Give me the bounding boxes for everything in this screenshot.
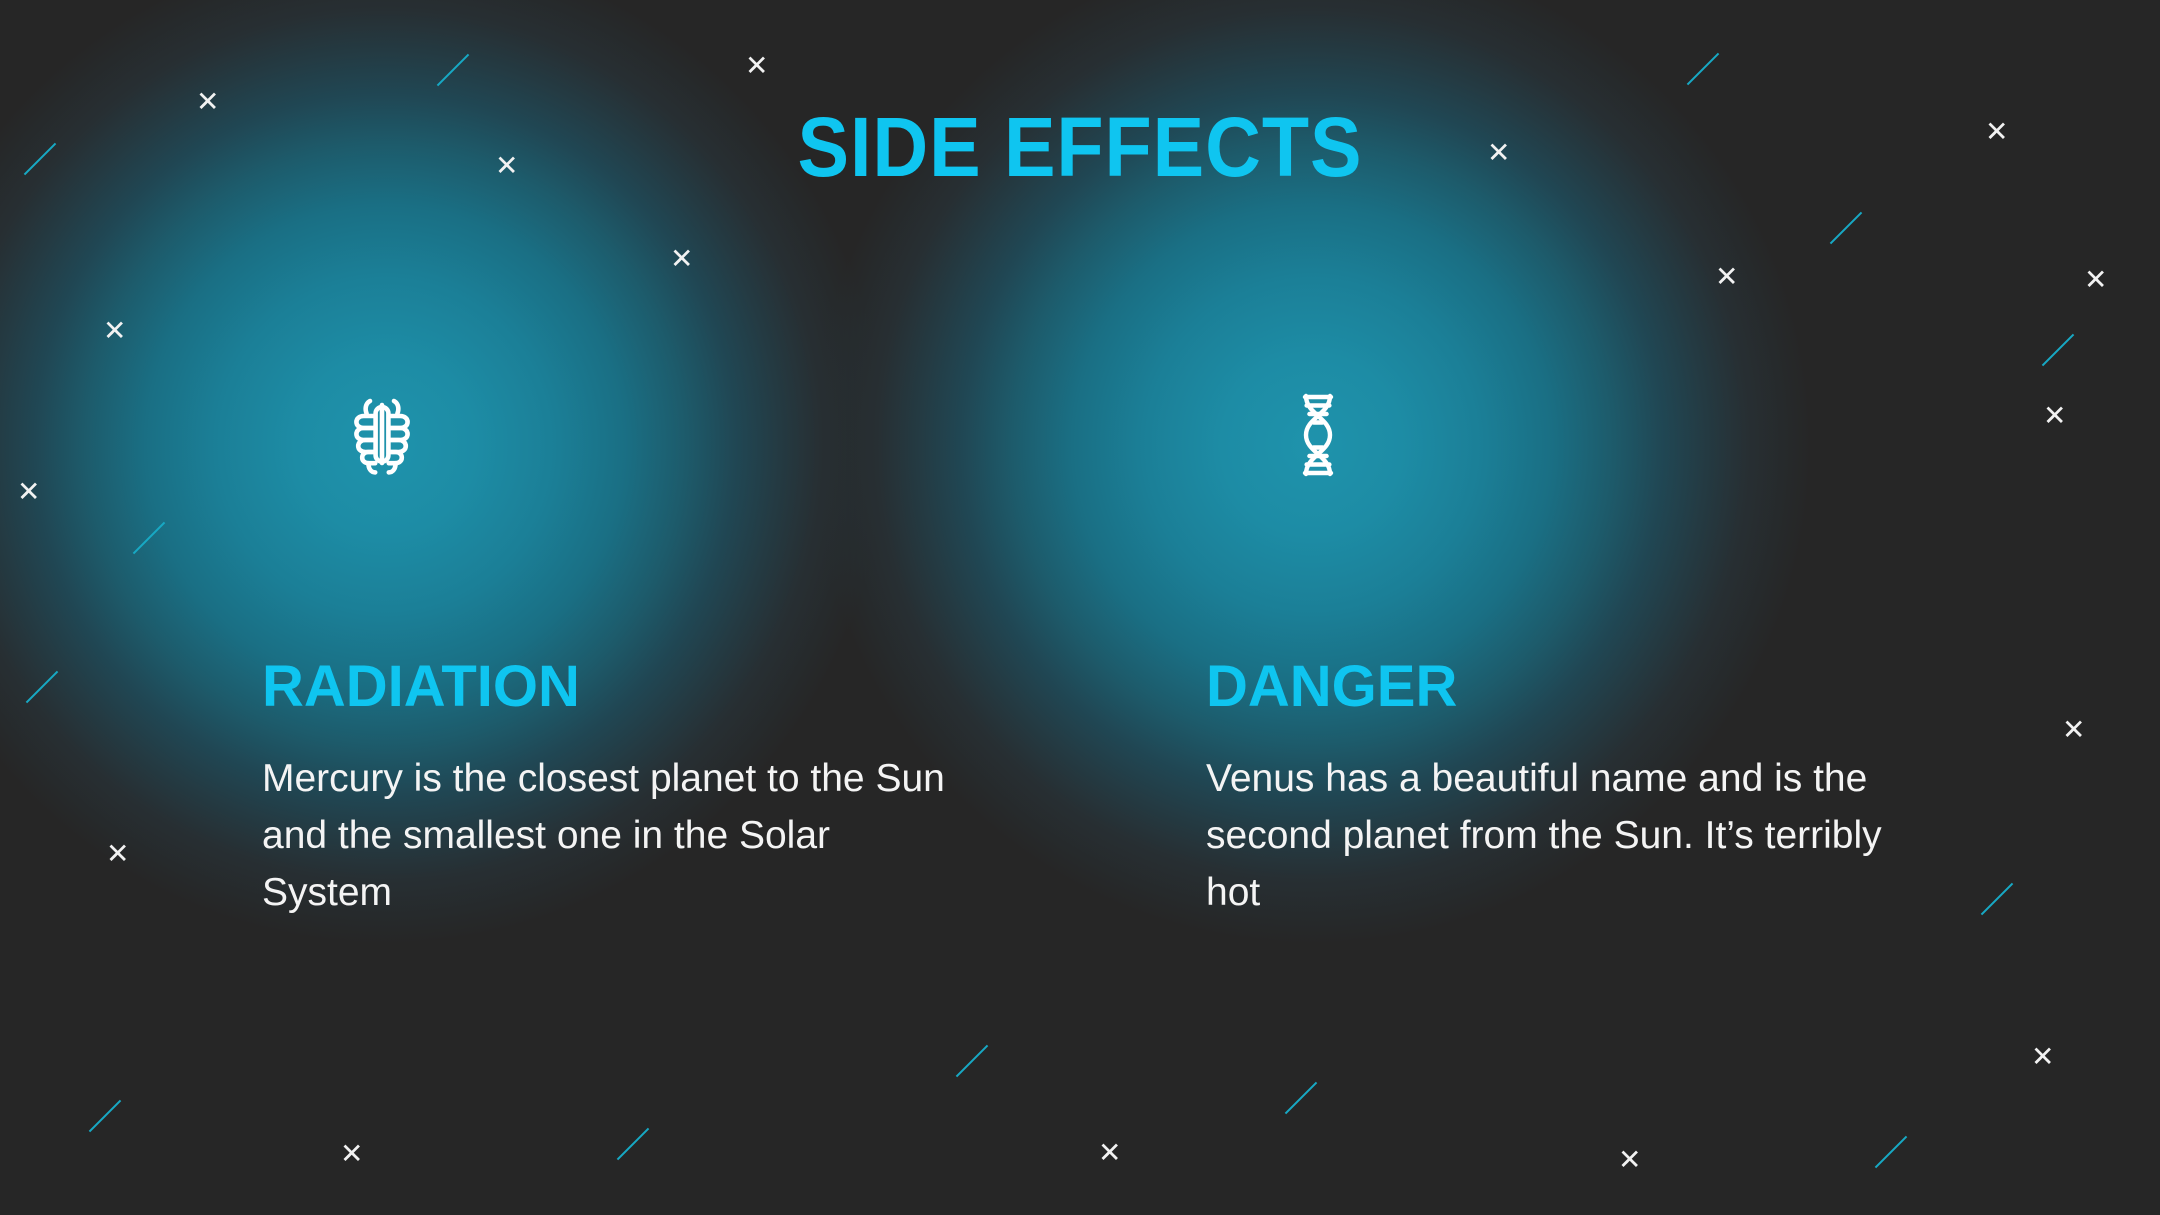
decorative-slash-icon (1830, 212, 1863, 245)
page-title: SIDE EFFECTS (86, 105, 2073, 189)
decorative-slash-icon (437, 54, 470, 87)
decorative-x-icon: ✕ (106, 840, 129, 868)
column-body-text: Mercury is the closest planet to the Sun… (262, 750, 952, 921)
decorative-x-icon: ✕ (17, 478, 40, 506)
decorative-slash-icon (24, 143, 57, 176)
decorative-slash-icon (1687, 53, 1720, 86)
decorative-x-icon: ✕ (340, 1140, 363, 1168)
decorative-slash-icon (1875, 1136, 1908, 1169)
decorative-x-icon: ✕ (2031, 1043, 2054, 1071)
dna-icon (1268, 380, 1368, 490)
decorative-slash-icon (133, 522, 166, 555)
ribcage-icon (332, 380, 432, 490)
feature-column-danger: DANGER Venus has a beautiful name and is… (1206, 380, 1966, 921)
decorative-slash-icon (89, 1100, 122, 1133)
decorative-x-icon: ✕ (2062, 716, 2085, 744)
decorative-x-icon: ✕ (2084, 266, 2107, 294)
column-heading: RADIATION (262, 658, 1022, 716)
decorative-x-icon: ✕ (670, 245, 693, 273)
decorative-slash-icon (956, 1045, 989, 1078)
decorative-x-icon: ✕ (2043, 402, 2066, 430)
decorative-slash-icon (1981, 883, 2014, 916)
decorative-slash-icon (2042, 334, 2075, 367)
decorative-slash-icon (26, 671, 59, 704)
feature-column-radiation: RADIATION Mercury is the closest planet … (262, 380, 1022, 921)
decorative-x-icon: ✕ (745, 52, 768, 80)
decorative-slash-icon (1285, 1082, 1318, 1115)
decorative-slash-icon (617, 1128, 650, 1161)
decorative-x-icon: ✕ (1618, 1146, 1641, 1174)
slide-canvas: ✕✕✕✕✕✕✕✕✕✕✕✕✕✕✕✕✕ SIDE EFFECTS (0, 0, 2160, 1215)
column-body-text: Venus has a beautiful name and is the se… (1206, 750, 1906, 921)
decorative-x-icon: ✕ (103, 317, 126, 345)
decorative-x-icon: ✕ (1098, 1139, 1121, 1167)
column-heading: DANGER (1206, 658, 1966, 716)
decorative-x-icon: ✕ (1715, 263, 1738, 291)
